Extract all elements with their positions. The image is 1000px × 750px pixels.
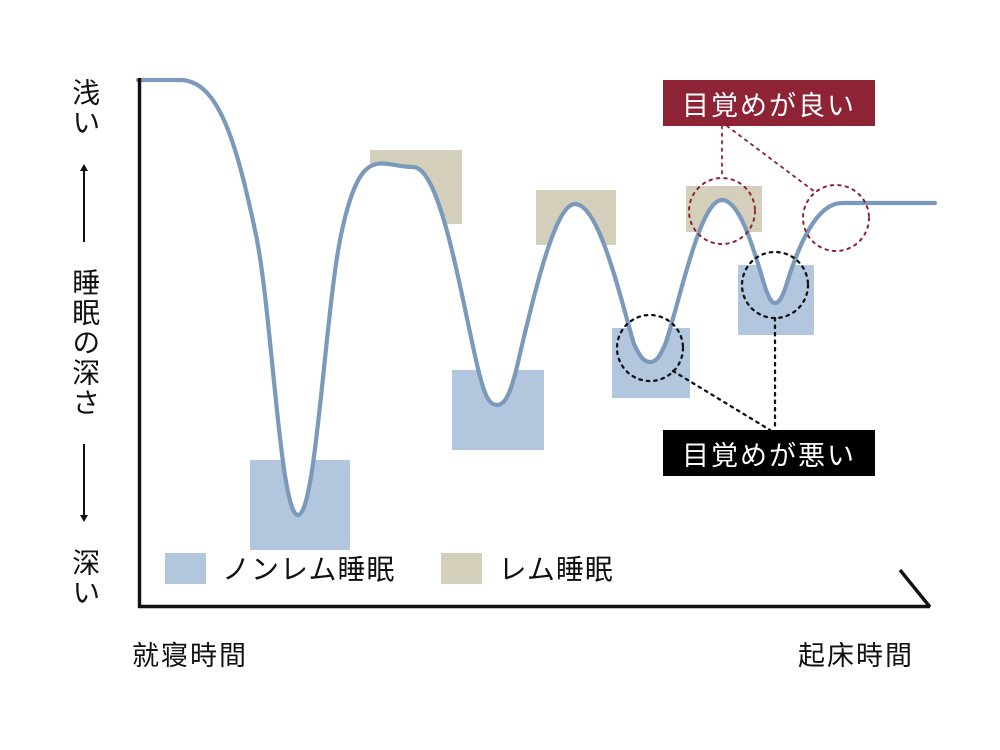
legend-item-rem: レム睡眠 — [441, 548, 613, 588]
legend: ノンレム睡眠 レム睡眠 — [165, 548, 614, 588]
good-wake-badge-label: 目覚めが良い — [682, 84, 856, 123]
color-swatch-icon — [441, 553, 482, 584]
color-swatch-icon — [165, 553, 206, 584]
bad-wake-connector-diagonal — [673, 371, 770, 430]
good-wake-connector-diagonal — [727, 126, 815, 192]
good-wake-connectors — [722, 126, 815, 192]
wake-rise-circle — [803, 185, 869, 251]
bad-wake-badge: 目覚めが悪い — [663, 430, 875, 476]
non-rem-fill-cycle-4 — [722, 200, 842, 560]
good-wake-badge: 目覚めが良い — [663, 80, 875, 126]
x-axis-end-label: 起床時間 — [798, 634, 914, 673]
non-rem-fill-group — [180, 80, 842, 560]
sleep-cycle-diagram: 浅い 睡眠の深さ 深い 就寝時間 起床時間 ノンレム睡眠 レム睡眠 目覚めが良い… — [0, 0, 1000, 750]
rem-fill-cycle-1 — [298, 100, 497, 515]
bad-wake-badge-label: 目覚めが悪い — [682, 434, 856, 473]
x-axis-start-label: 就寝時間 — [132, 634, 248, 673]
legend-item-non-rem: ノンレム睡眠 — [165, 548, 395, 588]
x-axis-arrow-tip — [900, 570, 930, 607]
legend-label-rem: レム睡眠 — [498, 548, 613, 588]
legend-label-non-rem: ノンレム睡眠 — [222, 548, 395, 588]
